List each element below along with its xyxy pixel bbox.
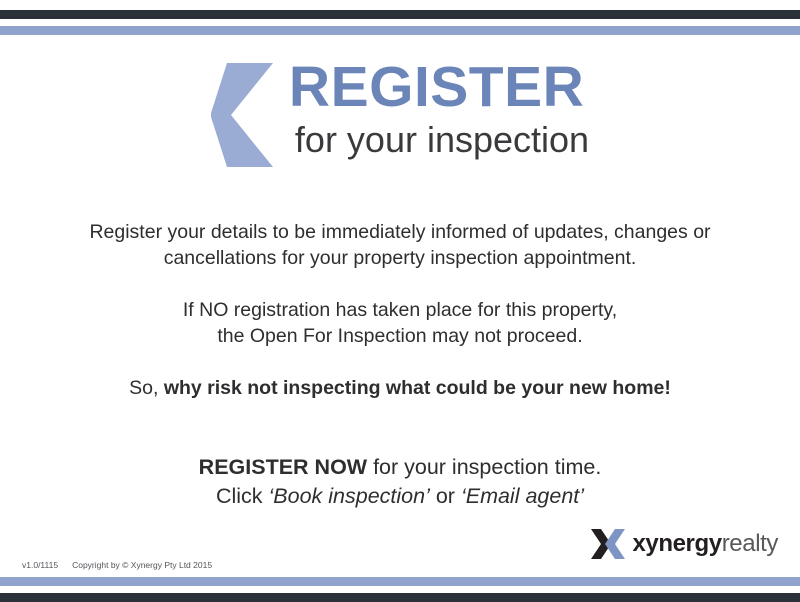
paragraph-2: If NO registration has taken place for t…: [55, 297, 745, 349]
page-subtitle: for your inspection: [295, 119, 589, 161]
top-blue-rule: [0, 26, 800, 35]
masthead: REGISTER for your inspection: [0, 57, 800, 179]
cta-connector: or: [430, 484, 461, 508]
masthead-text: REGISTER for your inspection: [289, 57, 589, 161]
paragraph-1-line-2: cancellations for your property inspecti…: [55, 245, 745, 271]
body-copy: Register your details to be immediately …: [0, 219, 800, 401]
paragraph-2-line-2: the Open For Inspection may not proceed.: [55, 323, 745, 349]
rule-gap-bottom: [0, 586, 800, 593]
bottom-rule-group: [0, 577, 800, 602]
brand-wordmark: xynergyrealty: [632, 532, 778, 556]
cta-line-1: REGISTER NOW for your inspection time.: [55, 453, 745, 482]
paragraph-1: Register your details to be immediately …: [55, 219, 745, 271]
brand-name-secondary: realty: [722, 530, 778, 557]
rule-gap: [0, 19, 800, 26]
copyright-label: Copyright by © Xynergy Pty Ltd 2015: [72, 560, 212, 570]
cta-option-book-inspection: ‘Book inspection’: [269, 484, 430, 508]
call-to-action: REGISTER NOW for your inspection time. C…: [0, 453, 800, 511]
top-rule-group: [0, 10, 800, 35]
bottom-blue-rule: [0, 577, 800, 586]
cta-option-email-agent: ‘Email agent’: [461, 484, 584, 508]
xynergy-x-logo-icon: [591, 529, 625, 559]
version-label: v1.0/1115: [22, 560, 58, 570]
brand-name-primary: xynergy: [632, 530, 721, 557]
cta-line-2: Click ‘Book inspection’ or ‘Email agent’: [55, 482, 745, 511]
paragraph-3-emphasis: why risk not inspecting what could be yo…: [164, 377, 671, 399]
page-content: REGISTER for your inspection Register yo…: [0, 35, 800, 577]
chevron-left-icon: [211, 63, 273, 167]
bottom-dark-rule: [0, 593, 800, 602]
brand-logo: xynergyrealty: [591, 529, 778, 559]
cta-register-now: REGISTER NOW: [199, 455, 367, 479]
paragraph-1-line-1: Register your details to be immediately …: [55, 219, 745, 245]
cta-click-label: Click: [216, 484, 269, 508]
cta-line-1-rest: for your inspection time.: [367, 455, 601, 479]
legal-line: v1.0/1115Copyright by © Xynergy Pty Ltd …: [22, 559, 212, 571]
paragraph-2-line-1: If NO registration has taken place for t…: [55, 297, 745, 323]
paragraph-3-prefix: So,: [129, 377, 164, 399]
register-inspection-page: REGISTER for your inspection Register yo…: [0, 0, 800, 600]
footer: xynergyrealty v1.0/1115Copyright by © Xy…: [0, 511, 800, 577]
top-dark-rule: [0, 10, 800, 19]
paragraph-3: So, why risk not inspecting what could b…: [55, 375, 745, 401]
page-title: REGISTER: [289, 57, 584, 117]
